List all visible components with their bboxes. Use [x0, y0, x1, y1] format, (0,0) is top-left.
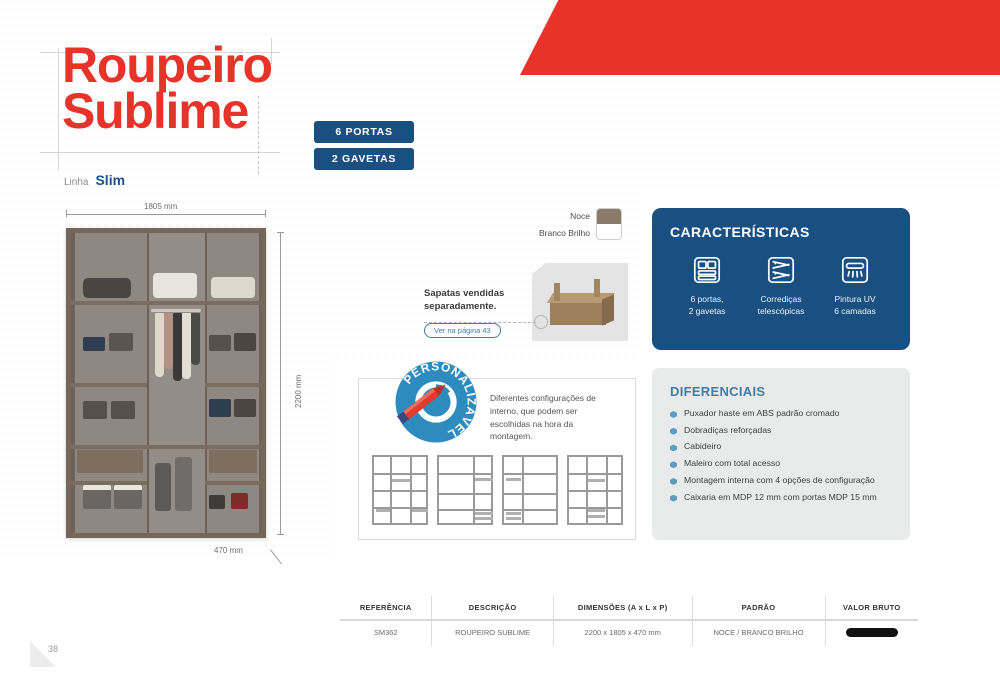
config-option-4	[567, 455, 623, 525]
swatch-label-branco: Branco Brilho	[539, 228, 590, 238]
wardrobe-shelf-center-bottom	[147, 445, 205, 449]
cell-padrao: NOCE / BRANCO BRILHO	[693, 621, 826, 646]
wardrobe-shelf-right-3	[205, 481, 261, 485]
wardrobe-shoes	[209, 495, 225, 509]
cell-valor-bruto	[826, 621, 918, 646]
bullet-icon	[670, 428, 677, 435]
caracteristicas-items: 6 portas, 2 gavetas Corrediças telescópi…	[670, 253, 892, 318]
wardrobe-shelf-right-1	[205, 383, 261, 387]
dim-width-label: 1805 mm	[144, 202, 177, 211]
caracteristica-slides: Corrediças telescópicas	[746, 253, 816, 318]
config-description: Diferentes configurações de interno, que…	[490, 392, 618, 443]
personalizavel-badge: PERSONALIZÁVEL	[392, 358, 480, 446]
col-header-dimensoes: DIMENSÕES (A x L x P)	[554, 596, 693, 619]
shoe-base-fin-right	[594, 279, 600, 297]
spec-badges: 6 PORTAS 2 GAVETAS	[314, 121, 414, 170]
bullet-icon	[670, 495, 677, 502]
wardrobe-hanging-rod	[151, 309, 201, 312]
wardrobe-stacked-clothes	[83, 337, 105, 351]
table-row: SM362 ROUPEIRO SUBLIME 2200 x 1805 x 470…	[340, 621, 918, 646]
dim-height-cap-top	[277, 232, 284, 233]
wardrobe-stacked-clothes	[234, 399, 256, 417]
wardrobe-stacked-clothes	[111, 401, 135, 419]
wardrobe-interior-photo	[66, 228, 266, 538]
dim-width-cap-right	[265, 210, 266, 217]
diferencial-text: Puxador haste em ABS padrão cromado	[684, 408, 840, 420]
title-guide-bottom	[40, 152, 280, 153]
wardrobe-luggage	[175, 457, 192, 511]
config-option-2	[437, 455, 493, 525]
diferencial-text: Caixaria em MDP 12 mm com portas MDP 15 …	[684, 492, 877, 504]
config-option-1	[372, 455, 428, 525]
swatch-chips	[596, 208, 622, 240]
shoe-base-body	[550, 301, 606, 325]
list-item: Puxador haste em ABS padrão cromado	[670, 408, 892, 420]
uv-paint-icon	[820, 253, 890, 287]
caracteristica-label: Pintura UV 6 camadas	[820, 293, 890, 318]
dim-height-cap-bottom	[277, 534, 284, 535]
list-item: Maleiro com total acesso	[670, 458, 892, 470]
bullet-icon	[670, 478, 677, 485]
list-item: Montagem interna com 4 opções de configu…	[670, 475, 892, 487]
dim-width-cap-left	[66, 210, 67, 217]
config-option-3	[502, 455, 558, 525]
shoe-base-fin-left	[554, 283, 560, 301]
col-header-padrao: PADRÃO	[693, 596, 826, 619]
wardrobe-stacked-clothes	[234, 333, 256, 351]
list-item: Dobradiças reforçadas	[670, 425, 892, 437]
swatch-chip-branco	[597, 224, 621, 239]
bullet-icon	[670, 411, 677, 418]
bullet-icon	[670, 461, 677, 468]
dim-depth-label: 470 mm	[214, 546, 243, 555]
diferencial-text: Cabideiro	[684, 441, 721, 453]
shoe-note-text: Sapatas vendidas separadamente.	[424, 288, 554, 314]
bullet-icon	[670, 444, 677, 451]
wardrobe-stacked-clothes	[209, 399, 231, 417]
spec-table: REFERÊNCIA DESCRIÇÃO DIMENSÕES (A x L x …	[340, 596, 918, 646]
drawers-icon	[672, 253, 742, 287]
caracteristicas-panel: CARACTERÍSTICAS 6 portas, 2 gavetas	[652, 208, 910, 350]
wardrobe-drawer-left	[77, 449, 143, 473]
cell-referencia: SM362	[340, 621, 432, 646]
wardrobe-garment	[164, 313, 173, 369]
col-header-valor: VALOR BRUTO	[826, 596, 918, 619]
title-guide-left	[58, 48, 59, 170]
red-corner-banner	[520, 0, 1000, 75]
dim-width-line	[66, 214, 266, 215]
product-line: Linha Slim	[64, 172, 125, 188]
swatch-chip-noce	[597, 209, 621, 224]
product-line-value: Slim	[95, 172, 125, 188]
wardrobe-pillows	[211, 277, 255, 298]
swatch-labels: Noce Branco Brilho	[539, 208, 590, 240]
badge-drawers: 2 GAVETAS	[314, 148, 414, 170]
wardrobe-shelf-left-1	[71, 383, 147, 387]
product-photo-block: 1805 mm 2200 mm 470 mm	[66, 228, 266, 538]
caracteristica-doors-drawers: 6 portas, 2 gavetas	[672, 253, 742, 318]
redaction-bar	[846, 628, 898, 637]
wardrobe-garment	[155, 313, 164, 377]
caracteristica-label: 6 portas, 2 gavetas	[672, 293, 742, 318]
diferenciais-panel: DIFERENCIAIS Puxador haste em ABS padrão…	[652, 368, 910, 540]
wardrobe-shoes	[231, 493, 248, 509]
table-header-row: REFERÊNCIA DESCRIÇÃO DIMENSÕES (A x L x …	[340, 596, 918, 619]
shoe-note-link[interactable]: Ver na página 43	[424, 323, 501, 338]
caracteristica-label: Corrediças telescópicas	[746, 293, 816, 318]
wardrobe-garment	[173, 313, 182, 381]
wardrobe-luggage	[155, 463, 171, 511]
list-item: Caixaria em MDP 12 mm com portas MDP 15 …	[670, 492, 892, 504]
wardrobe-stacked-clothes	[109, 333, 133, 351]
wardrobe-shelf-top	[71, 301, 261, 305]
catalog-page: Roupeiro Sublime Linha Slim 6 PORTAS 2 G…	[0, 0, 1000, 695]
telescopic-slides-icon	[746, 253, 816, 287]
wardrobe-storage-box	[114, 485, 142, 509]
wardrobe-stacked-clothes	[83, 401, 107, 419]
shoe-note: Sapatas vendidas separadamente. Ver na p…	[424, 288, 554, 338]
diferenciais-title: DIFERENCIAIS	[670, 384, 892, 399]
shoe-base-side	[602, 294, 614, 325]
dim-height-line	[280, 232, 281, 534]
cell-descricao: ROUPEIRO SUBLIME	[432, 621, 553, 646]
cell-dimensoes: 2200 x 1805 x 470 mm	[554, 621, 693, 646]
diferencial-text: Dobradiças reforçadas	[684, 425, 771, 437]
col-header-referencia: REFERÊNCIA	[340, 596, 432, 619]
config-options-grid	[372, 455, 623, 525]
dim-height-label: 2200 mm	[294, 375, 303, 408]
diferencial-text: Montagem interna com 4 opções de configu…	[684, 475, 875, 487]
wardrobe-storage-box	[83, 485, 111, 509]
swatch-label-noce: Noce	[539, 211, 590, 221]
wardrobe-suitcase	[153, 273, 197, 298]
wardrobe-garment	[191, 313, 200, 365]
color-swatches: Noce Branco Brilho	[539, 208, 622, 240]
col-header-descricao: DESCRIÇÃO	[432, 596, 553, 619]
wardrobe-folded-blanket	[83, 278, 131, 298]
badge-doors: 6 PORTAS	[314, 121, 414, 143]
wardrobe-drawer-right	[209, 449, 257, 473]
wardrobe-garment	[182, 313, 191, 379]
caracteristica-uv-paint: Pintura UV 6 camadas	[820, 253, 890, 318]
page-number: 38	[48, 644, 58, 654]
list-item: Cabideiro	[670, 441, 892, 453]
product-line-label: Linha	[64, 177, 88, 188]
diferencial-text: Maleiro com total acesso	[684, 458, 780, 470]
caracteristicas-title: CARACTERÍSTICAS	[670, 224, 892, 240]
wardrobe-stacked-clothes	[209, 335, 231, 351]
